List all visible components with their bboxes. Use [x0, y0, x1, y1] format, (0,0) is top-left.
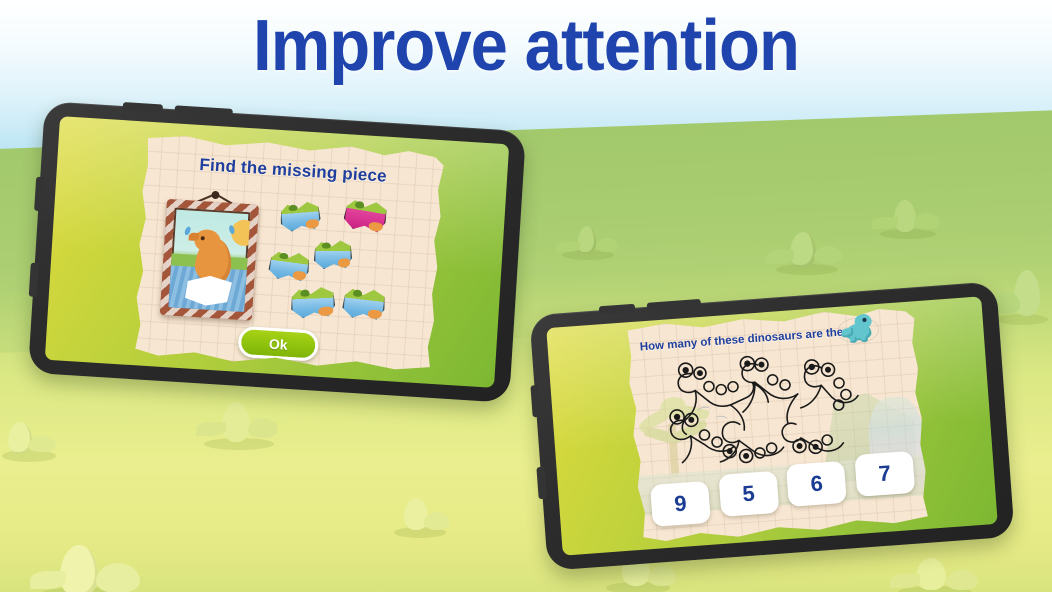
grass-tuft	[0, 420, 64, 462]
grass-tuft	[556, 226, 620, 260]
puzzle-piece[interactable]	[267, 248, 311, 283]
grass-tuft	[196, 402, 284, 450]
answer-button-3[interactable]: 7	[854, 451, 915, 497]
tablet-screen-right: How many of these dinosaurs are there:	[546, 296, 998, 555]
puzzle-piece[interactable]	[290, 285, 335, 319]
blue-dinosaur-mascot	[840, 312, 876, 344]
grass-tuft	[196, 400, 198, 402]
promo-banner: Find the missing piece	[0, 0, 1052, 592]
answer-button-0[interactable]: 9	[650, 481, 711, 527]
tablet-left[interactable]: Find the missing piece	[28, 101, 526, 403]
activity-sheet-left: Find the missing piece	[131, 133, 444, 373]
overlapping-dinosaurs-drawing	[661, 344, 885, 478]
tablet-right[interactable]: How many of these dinosaurs are there:	[529, 281, 1014, 571]
puzzle-piece-pink[interactable]	[342, 196, 389, 235]
grass-tuft	[390, 498, 454, 538]
answer-button-2[interactable]: 6	[786, 461, 847, 507]
picture-canvas	[168, 207, 250, 312]
framed-dinosaur-picture	[160, 199, 259, 321]
grass-tuft	[890, 558, 986, 592]
grass-tuft	[872, 200, 942, 240]
activity-sheet-right: How many of these dinosaurs are there:	[624, 305, 929, 544]
ok-button[interactable]: Ok	[237, 326, 319, 362]
grass-tuft	[990, 270, 1052, 326]
puzzle-piece[interactable]	[314, 239, 352, 269]
answer-button-1[interactable]: 5	[718, 471, 779, 517]
grass-tuft	[30, 545, 148, 592]
tablet-screen-left: Find the missing piece	[45, 116, 509, 388]
puzzle-piece[interactable]	[279, 200, 321, 233]
page-title: Improve attention	[37, 4, 1015, 88]
grass-tuft	[766, 232, 844, 276]
puzzle-piece[interactable]	[341, 285, 386, 322]
